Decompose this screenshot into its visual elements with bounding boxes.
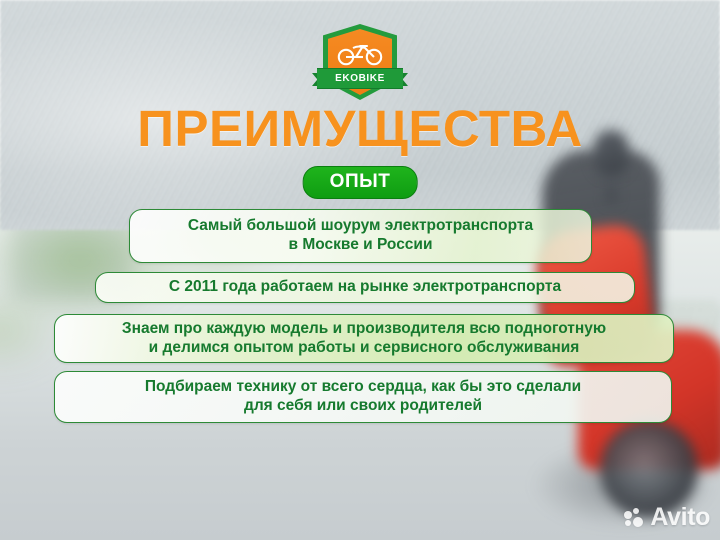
benefit-1-line-1: Самый большой шоурум электротранспорта (188, 217, 533, 234)
benefit-box-2: С 2011 года работаем на рынке электротра… (95, 272, 635, 303)
avito-label: Avito (650, 503, 710, 532)
benefit-4-line-1: Подбираем технику от всего сердца, как б… (145, 378, 581, 395)
benefit-2-line-1: С 2011 года работаем на рынке электротра… (169, 278, 561, 295)
benefit-4-line-2: для себя или своих родителей (145, 397, 581, 416)
benefit-box-3: Знаем про каждую модель и производителя … (54, 314, 674, 363)
avito-dots-icon (624, 508, 646, 528)
page-title: ПРЕИМУЩЕСТВА (0, 103, 720, 154)
benefit-3-line-1: Знаем про каждую модель и производителя … (122, 320, 606, 337)
bicycle-icon (336, 38, 384, 66)
logo-wordmark: EKOBIKE (335, 73, 385, 84)
benefit-1-line-2: в Москве и России (188, 236, 533, 255)
logo-ribbon: EKOBIKE (317, 68, 403, 89)
promo-poster: EKOBIKE ПРЕИМУЩЕСТВА ОПЫТ Самый большой … (0, 0, 720, 540)
benefit-box-1: Самый большой шоурум электротранспорта в… (129, 209, 592, 263)
avito-watermark: Avito (624, 503, 710, 532)
benefit-box-4: Подбираем технику от всего сердца, как б… (54, 371, 672, 423)
section-badge: ОПЫТ (303, 166, 418, 199)
benefit-3-line-2: и делимся опытом работы и сервисного обс… (122, 339, 606, 358)
brand-logo: EKOBIKE (323, 24, 397, 100)
